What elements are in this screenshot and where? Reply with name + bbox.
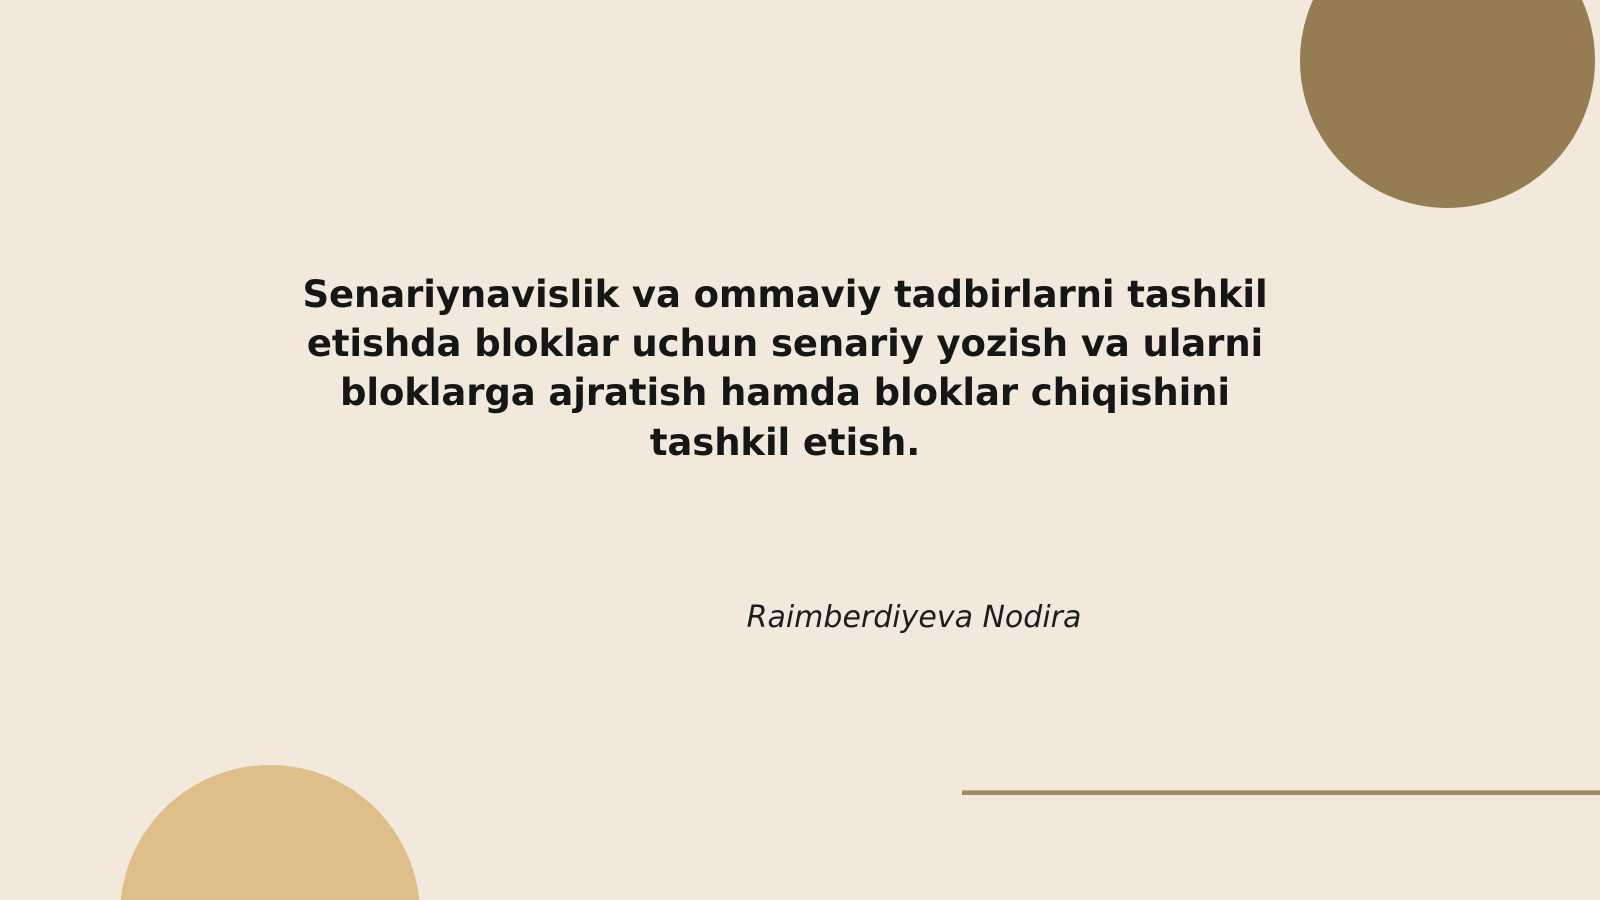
slide-title: Senariynavislik va ommaviy tadbirlarni t… (300, 270, 1270, 467)
decorative-horizontal-rule (962, 790, 1600, 795)
author-name: Raimberdiyeva Nodira (300, 600, 1528, 636)
title-block: Senariynavislik va ommaviy tadbirlarni t… (300, 270, 1270, 467)
presentation-slide: Senariynavislik va ommaviy tadbirlarni t… (0, 0, 1600, 900)
author-block: Raimberdiyeva Nodira (300, 600, 1528, 636)
decorative-circle-bottom-left-icon (120, 765, 420, 900)
decorative-circle-top-right-icon (1300, 0, 1595, 208)
